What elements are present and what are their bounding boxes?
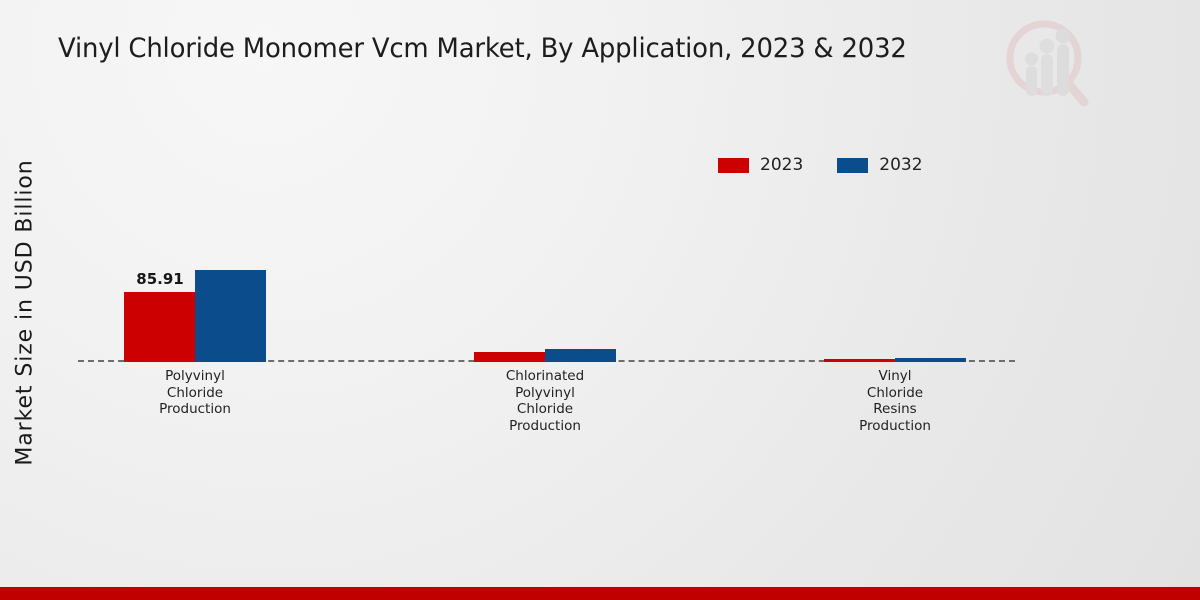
cat-line: Chloride	[85, 385, 305, 402]
footer-accent-strip	[0, 587, 1200, 600]
bar-2032-vinyl-chloride-resins-production[interactable]	[895, 358, 966, 362]
bar-2023-polyvinyl-chloride-production[interactable]	[124, 292, 195, 362]
bar-2023-vinyl-chloride-resins-production[interactable]	[824, 359, 895, 362]
cat-line: Production	[85, 401, 305, 418]
bar-2032-polyvinyl-chloride-production[interactable]	[195, 270, 266, 362]
cat-line: Production	[435, 418, 655, 435]
cat-line: Production	[785, 418, 1005, 435]
cat-line: Vinyl	[785, 368, 1005, 385]
y-axis-label: Market Size in USD Billion	[13, 133, 38, 493]
plot-area: 85.91	[78, 150, 1015, 362]
cat-line: Chloride	[435, 401, 655, 418]
bar-2023-chlorinated-polyvinyl-chloride-production[interactable]	[474, 352, 545, 362]
x-axis-category-vinyl-chloride-resins-production: Vinyl Chloride Resins Production	[785, 368, 1005, 434]
x-axis-category-polyvinyl-chloride-production: Polyvinyl Chloride Production	[85, 368, 305, 418]
cat-line: Polyvinyl	[435, 385, 655, 402]
cat-line: Chloride	[785, 385, 1005, 402]
chart-canvas: Vinyl Chloride Monomer Vcm Market, By Ap…	[0, 0, 1200, 600]
cat-line: Polyvinyl	[85, 368, 305, 385]
watermark-logo	[1004, 14, 1090, 110]
page-title: Vinyl Chloride Monomer Vcm Market, By Ap…	[58, 33, 907, 64]
bar-group-chlorinated-polyvinyl-chloride-production	[474, 349, 616, 362]
bar-group-vinyl-chloride-resins-production	[824, 358, 966, 362]
cat-line: Chlorinated	[435, 368, 655, 385]
bar-value-2023-polyvinyl-chloride-production: 85.91	[136, 270, 183, 288]
x-axis-category-chlorinated-polyvinyl-chloride-production: Chlorinated Polyvinyl Chloride Productio…	[435, 368, 655, 434]
bar-2032-chlorinated-polyvinyl-chloride-production[interactable]	[545, 349, 616, 362]
cat-line: Resins	[785, 401, 1005, 418]
